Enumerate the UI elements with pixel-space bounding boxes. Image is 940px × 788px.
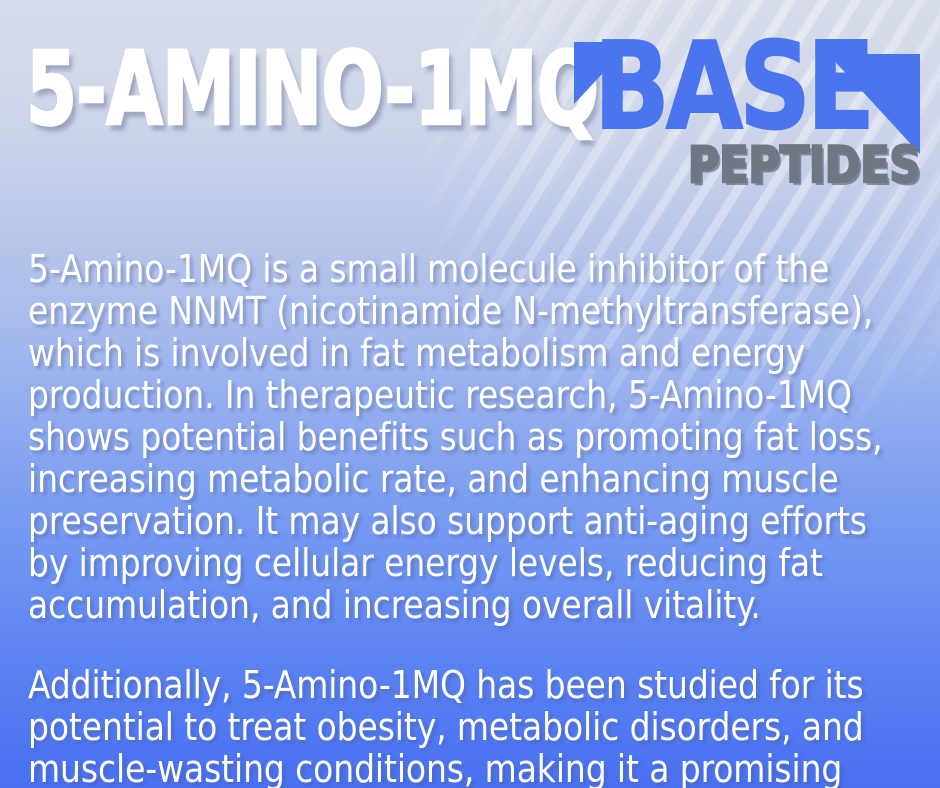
- brand-subtitle: PEPTIDES: [688, 140, 920, 190]
- brand-name: BASE: [594, 28, 871, 148]
- description-paragraph: Additionally, 5-Amino-1MQ has been studi…: [28, 664, 897, 788]
- brand-logo: BASE PEPTIDES: [566, 26, 940, 176]
- description-body: 5-Amino-1MQ is a small molecule inhibito…: [28, 248, 928, 788]
- page-title: 5-AMINO-1MQ: [26, 38, 598, 142]
- product-info-poster: 5-AMINO-1MQ BASE PEPTIDES 5-Amino-1MQ is…: [0, 0, 940, 788]
- description-paragraph: 5-Amino-1MQ is a small molecule inhibito…: [28, 248, 897, 626]
